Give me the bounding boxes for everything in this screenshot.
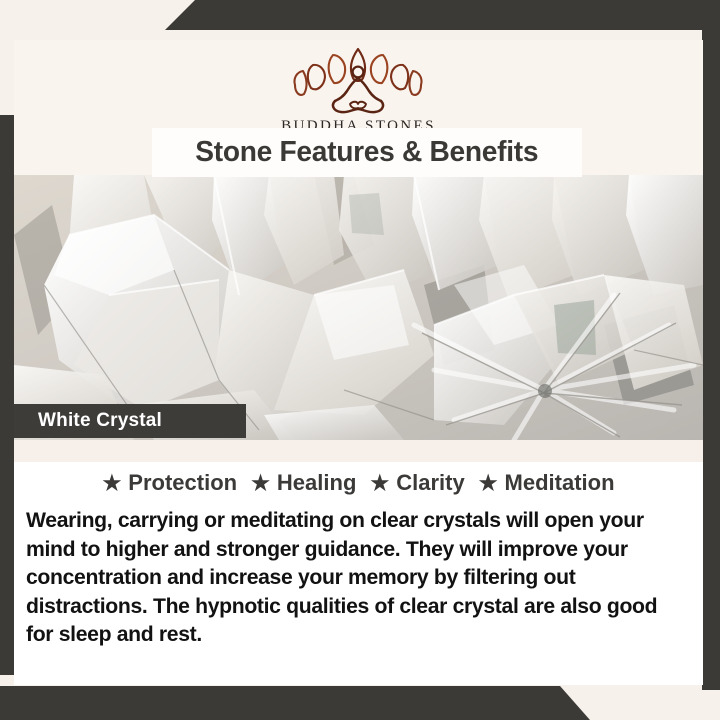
lotus-meditation-logo-icon xyxy=(283,45,433,117)
star-icon: ★ xyxy=(251,473,270,494)
benefit-label: Meditation xyxy=(505,470,615,496)
benefit-label: Healing xyxy=(277,470,356,496)
benefits-row: ★ Protection ★ Healing ★ Clarity ★ Medit… xyxy=(14,462,703,504)
white-crystal-photo xyxy=(14,175,703,440)
benefit-item-meditation: ★ Meditation xyxy=(479,470,615,496)
star-icon: ★ xyxy=(370,473,389,494)
benefit-label: Clarity xyxy=(396,470,464,496)
star-icon: ★ xyxy=(102,473,121,494)
top-banner-decoration xyxy=(0,0,720,30)
page-title: Stone Features & Benefits xyxy=(196,136,539,169)
cream-divider-band xyxy=(14,440,703,462)
logo-lockup: BUDDHA STONES xyxy=(281,45,436,135)
benefit-item-clarity: ★ Clarity xyxy=(370,470,464,496)
photo-caption-badge: White Crystal xyxy=(14,404,246,438)
right-edge-decoration xyxy=(702,30,720,690)
benefit-item-healing: ★ Healing xyxy=(251,470,356,496)
star-icon: ★ xyxy=(479,473,498,494)
description-paragraph: Wearing, carrying or meditating on clear… xyxy=(26,506,688,649)
page-title-band: Stone Features & Benefits xyxy=(152,128,582,177)
bottom-banner-decoration xyxy=(0,686,720,720)
benefit-item-protection: ★ Protection xyxy=(102,470,237,496)
benefit-label: Protection xyxy=(128,470,237,496)
left-edge-decoration xyxy=(0,115,14,675)
description-text-block: Wearing, carrying or meditating on clear… xyxy=(26,506,688,649)
infographic-canvas: BUDDHA STONES Stone Features & Benefits xyxy=(0,0,720,720)
photo-caption-text: White Crystal xyxy=(38,410,162,432)
